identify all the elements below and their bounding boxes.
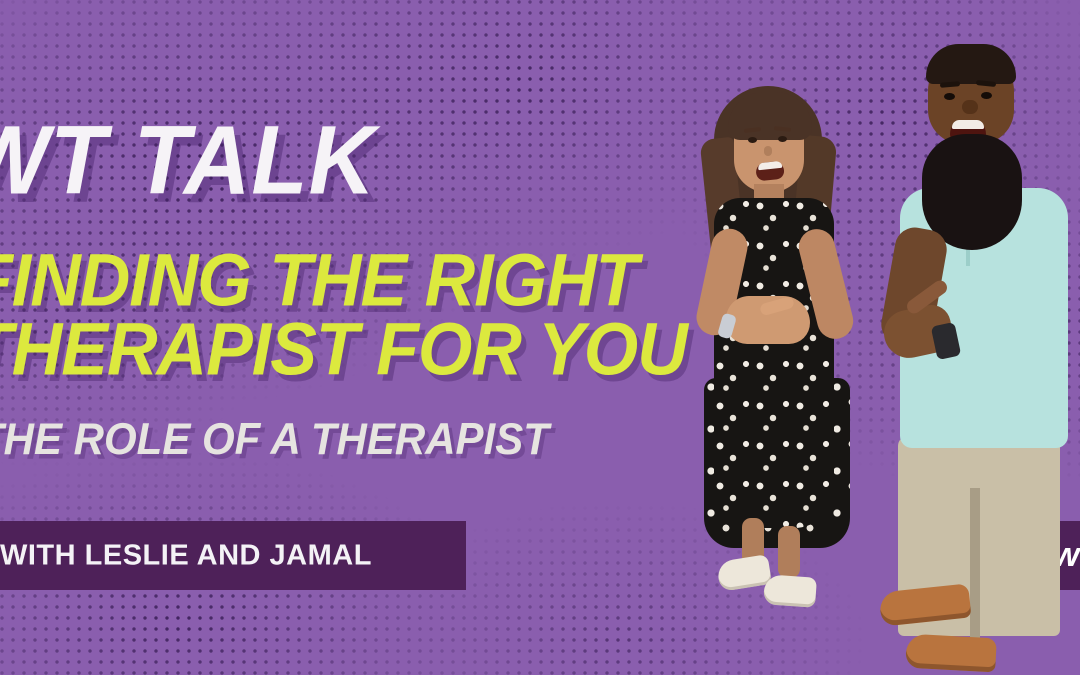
headline-line-2: THERAPIST FOR YOU xyxy=(0,312,687,386)
man-teeth xyxy=(952,120,984,129)
woman-leg-right xyxy=(778,526,800,578)
episode-subtitle: THE ROLE OF A THERAPIST xyxy=(0,417,549,462)
hosts-banner-label: WITH LESLIE AND JAMAL xyxy=(0,539,372,572)
woman-eye-right xyxy=(778,136,787,142)
host-woman-photo xyxy=(690,78,880,623)
man-pants-seam xyxy=(970,488,980,638)
man-nose xyxy=(962,100,978,114)
woman-eye-left xyxy=(748,137,757,143)
woman-nose xyxy=(764,146,772,156)
hosts-banner: WITH LESLIE AND JAMAL xyxy=(0,521,466,590)
woman-shoe-right xyxy=(763,574,817,608)
man-shoe-right xyxy=(905,634,997,673)
man-eye-right xyxy=(981,92,992,99)
headline-line-1: FINDING THE RIGHT xyxy=(0,243,637,317)
show-name: WT TALK xyxy=(0,112,376,210)
woman-shoe-left xyxy=(716,554,772,592)
promo-graphic: WT TALK FINDING THE RIGHT THERAPIST FOR … xyxy=(0,0,1080,675)
host-man-photo xyxy=(888,38,1080,648)
man-hair xyxy=(926,44,1016,84)
man-eye-left xyxy=(944,93,955,100)
